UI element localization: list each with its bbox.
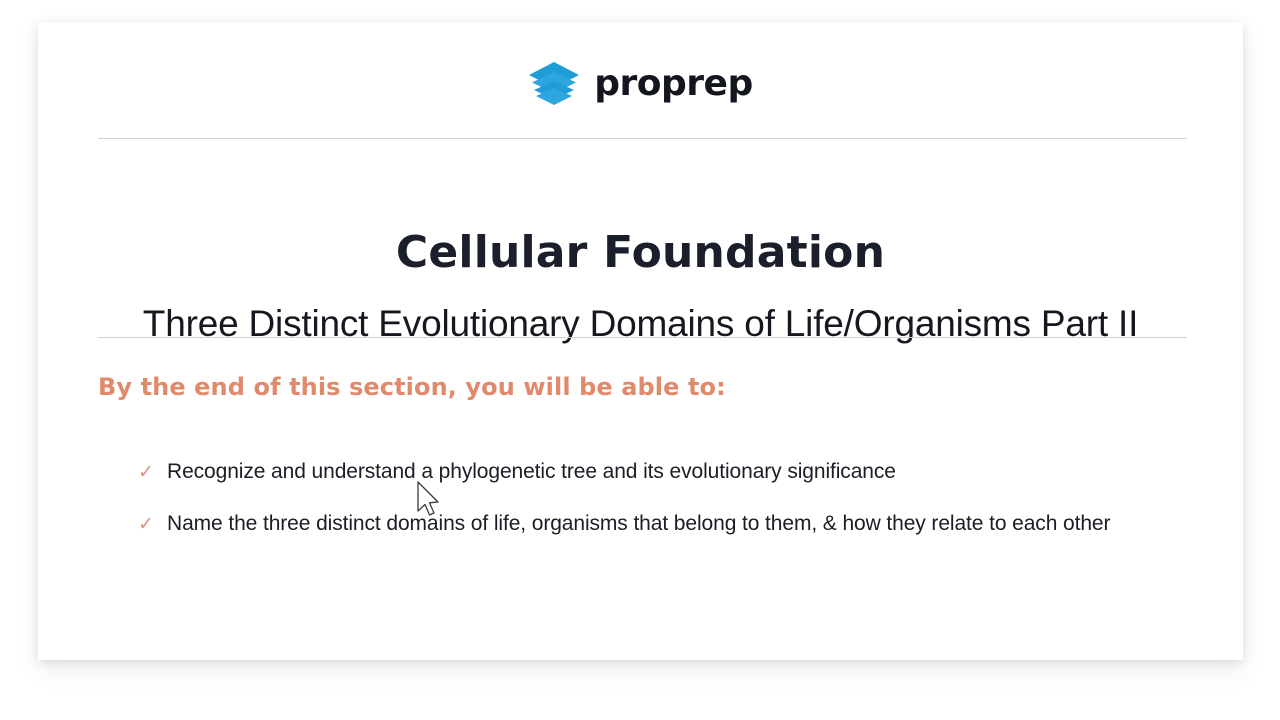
brand-wordmark: proprep — [594, 66, 752, 102]
slide-title: Cellular Foundation — [38, 229, 1243, 277]
objectives-heading: By the end of this section, you will be … — [98, 373, 726, 401]
objective-text: Name the three distinct domains of life,… — [167, 512, 1110, 536]
divider-top — [98, 138, 1187, 139]
list-item: ✓ Name the three distinct domains of lif… — [138, 512, 1208, 536]
graduation-cap-icon — [528, 60, 580, 108]
list-item: ✓ Recognize and understand a phylogeneti… — [138, 460, 1208, 484]
brand-logo: proprep — [38, 60, 1243, 108]
slide-subtitle: Three Distinct Evolutionary Domains of L… — [38, 303, 1243, 346]
check-icon: ✓ — [138, 512, 154, 536]
objective-text: Recognize and understand a phylogenetic … — [167, 460, 896, 484]
slide-card: proprep Cellular Foundation Three Distin… — [38, 22, 1243, 660]
check-icon: ✓ — [138, 460, 154, 484]
objectives-list: ✓ Recognize and understand a phylogeneti… — [138, 460, 1208, 564]
slide-viewport: proprep Cellular Foundation Three Distin… — [0, 0, 1280, 720]
divider-middle — [98, 337, 1187, 338]
